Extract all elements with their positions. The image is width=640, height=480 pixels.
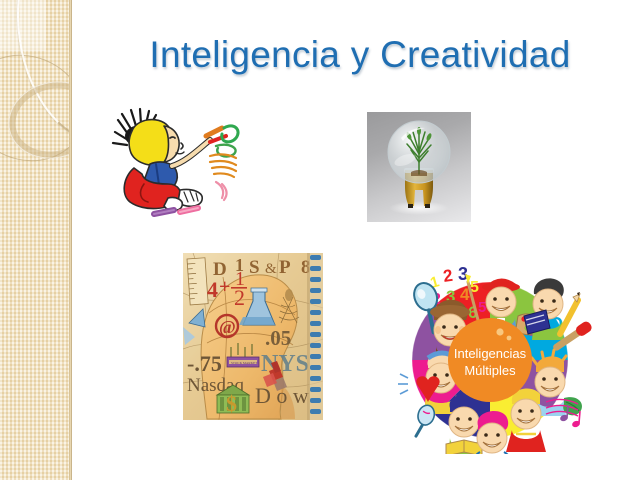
svg-text:-.75: -.75: [187, 351, 222, 376]
image-collage-head: Collage illustration of a human head pro…: [183, 253, 323, 420]
svg-text:P: P: [279, 257, 291, 278]
image-light-bulb-plant: Photograph of a clear light bulb with a …: [367, 112, 471, 222]
svg-text:3: 3: [458, 264, 468, 284]
decorative-sidebar: [0, 0, 72, 480]
svg-text:4: 4: [207, 277, 218, 302]
svg-text:2: 2: [234, 285, 245, 310]
wheel-center-label-line2: Múltiples: [464, 363, 516, 378]
wheel-center-label-line1: Inteligencias: [454, 346, 527, 361]
sidebar-edge-divider: [69, 0, 72, 480]
svg-text:&: &: [265, 261, 277, 277]
svg-text:@: @: [219, 317, 236, 337]
slide-canvas: Inteligencia y Creatividad Cartoon child…: [0, 0, 640, 480]
image-multiple-intelligences-wheel: Colourful wheel of cartoon children repr…: [392, 262, 592, 454]
svg-text:NYS: NYS: [261, 351, 309, 377]
svg-text:S: S: [249, 257, 260, 278]
svg-text:$: $: [226, 391, 237, 416]
svg-text:STOCK MARKET: STOCK MARKET: [231, 361, 258, 365]
svg-text:.05: .05: [265, 326, 291, 350]
svg-text:5: 5: [478, 299, 486, 316]
page-title: Inteligencia y Creatividad: [100, 34, 620, 76]
svg-text:2: 2: [442, 266, 454, 286]
image-kid-drawing: Cartoon child sitting on the floor drawi…: [98, 98, 258, 233]
svg-text:+: +: [219, 276, 230, 298]
